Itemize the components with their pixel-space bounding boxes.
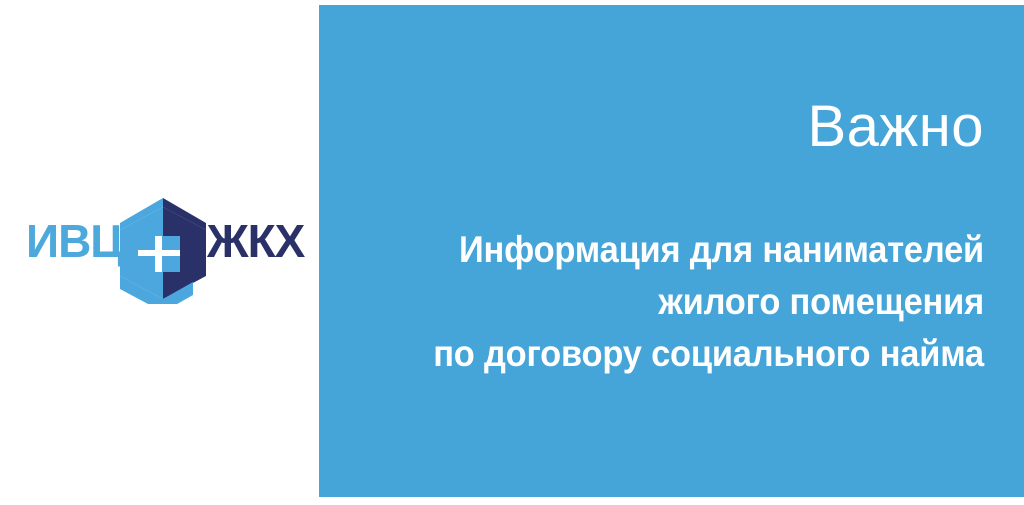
hexagon-house-icon	[118, 196, 208, 304]
banner-subtitle-line-1: Информация для нанимателей	[389, 224, 984, 276]
logo-word-ivc: ИВЦ	[26, 218, 123, 264]
banner-subtitle-line-3: по договору социального найма	[389, 328, 984, 380]
banner-subtitle: Информация для нанимателей жилого помеще…	[389, 224, 984, 380]
logo-window-lower-left	[138, 256, 155, 272]
logo-word-jkh: ЖКХ	[207, 218, 304, 264]
logo-window-lower-right	[162, 256, 180, 272]
logo-window-horizontal	[138, 250, 180, 256]
logo-window-right-pane	[162, 236, 180, 250]
logo-lockup: ИВЦ ЖКХ	[26, 196, 296, 304]
banner-heading: Важно	[364, 96, 984, 158]
banner-subtitle-line-2: жилого помещения	[389, 276, 984, 328]
logo-window-left-pane	[138, 236, 155, 250]
